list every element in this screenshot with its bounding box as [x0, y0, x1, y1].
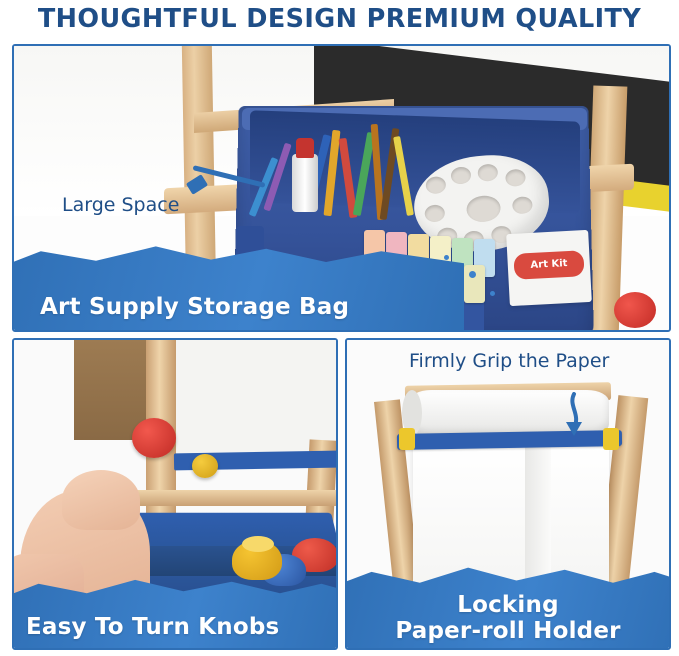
product-box-label-text: Art Kit: [513, 250, 584, 280]
caption-paper-roll-line1: Locking: [457, 592, 559, 618]
tray-wood-edge: [118, 490, 336, 506]
paper-roll-panel: Firmly Grip the Paper Locking Paper-roll…: [345, 338, 671, 650]
easel-wheel: [614, 292, 656, 328]
product-feature-collage: THOUGHTFUL DESIGN PREMIUM QUALITY: [0, 0, 679, 656]
caption-knobs: Easy To Turn Knobs: [26, 614, 279, 640]
callout-large-space: Large Space: [62, 194, 179, 216]
knobs-panel: Easy To Turn Knobs: [12, 338, 338, 650]
callout-firmly-grip: Firmly Grip the Paper: [409, 350, 609, 372]
paint-fleck: [490, 291, 495, 296]
adjustment-knob-top[interactable]: [132, 418, 176, 458]
glue-bottle: [292, 154, 318, 212]
paint-pot-yellow-lid: [242, 536, 274, 552]
adjustment-knob-right[interactable]: [192, 454, 218, 478]
paint-fleck: [469, 271, 476, 278]
storage-bag-panel: Art Kit Large Space Art Supply Storage B…: [12, 44, 671, 332]
page-title: THOUGHTFUL DESIGN PREMIUM QUALITY: [0, 4, 679, 34]
paper-roll-photo: Firmly Grip the Paper Locking Paper-roll…: [347, 340, 669, 648]
caption-storage-bag: Art Supply Storage Bag: [40, 294, 349, 320]
paint-fleck: [444, 255, 449, 260]
caption-paper-roll-line2: Paper-roll Holder: [395, 618, 620, 644]
storage-bag-photo: Art Kit Large Space Art Supply Storage B…: [14, 46, 669, 330]
clamp-lock-right[interactable]: [603, 428, 619, 450]
knobs-photo: Easy To Turn Knobs: [14, 340, 336, 648]
clamp-lock-left[interactable]: [399, 428, 415, 450]
caption-paper-roll: Locking Paper-roll Holder: [347, 592, 669, 644]
product-box-label: Art Kit: [513, 250, 584, 280]
glue-bottle-cap: [296, 138, 314, 158]
down-arrow-icon: [559, 392, 589, 438]
hand-fingers: [62, 470, 140, 530]
